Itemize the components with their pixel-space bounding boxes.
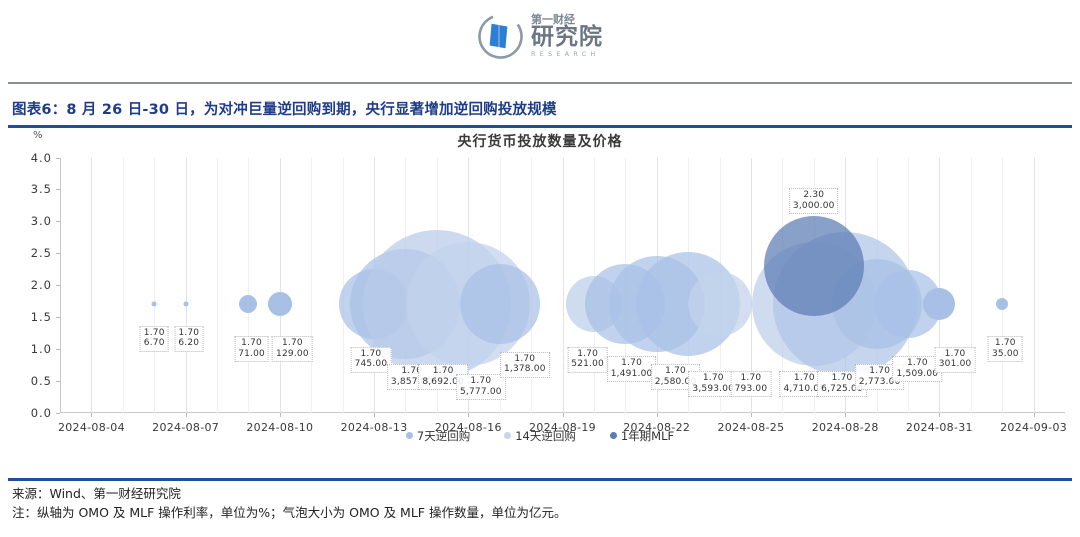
data-label: 1.7071.00 — [234, 336, 269, 362]
data-label-rate: 1.70 — [735, 373, 768, 384]
y-axis-label: 0.0 — [0, 406, 52, 420]
figure-title: 图表6：8 月 26 日-30 日，为对冲巨量逆回购到期，央行显著增加逆回购投放… — [12, 98, 1080, 119]
x-axis-tick — [186, 413, 187, 417]
y-axis-label: 2.5 — [0, 246, 52, 260]
grid-line — [280, 158, 281, 413]
x-axis-tick — [563, 413, 564, 417]
data-label: 1.70521.00 — [567, 347, 608, 373]
footer-divider — [8, 478, 1072, 481]
x-axis-tick — [939, 413, 940, 417]
data-label-rate: 1.70 — [238, 338, 265, 349]
y-axis-tick — [56, 221, 60, 222]
legend-item-3[interactable]: 1年期MLF — [610, 428, 674, 444]
data-bubble[interactable] — [239, 295, 257, 313]
legend-item-2[interactable]: 14天逆回购 — [504, 428, 576, 444]
data-bubble[interactable] — [152, 302, 157, 307]
x-axis-tick — [751, 413, 752, 417]
grid-line — [248, 158, 249, 413]
data-label-rate: 1.70 — [460, 376, 502, 387]
y-axis-label: 1.0 — [0, 342, 52, 356]
y-axis-tick — [56, 285, 60, 286]
grid-line — [91, 158, 92, 413]
y-axis-tick — [56, 158, 60, 159]
data-label-rate: 1.70 — [276, 338, 309, 349]
x-axis-tick — [280, 413, 281, 417]
data-label: 1.70129.00 — [272, 336, 313, 362]
data-label-rate: 1.70 — [504, 354, 546, 365]
data-label-amount: 3,593.00 — [692, 384, 734, 395]
y-axis-label: 1.5 — [0, 310, 52, 324]
logo-main-text: 研究院 — [531, 26, 603, 49]
data-label-amount: 6.20 — [178, 338, 199, 349]
x-axis-tick — [91, 413, 92, 417]
grid-line — [1002, 158, 1003, 413]
data-label-amount: 3,000.00 — [793, 201, 835, 212]
y-axis-label: 3.5 — [0, 182, 52, 196]
y-axis-tick — [56, 253, 60, 254]
data-label-amount: 1,491.00 — [611, 369, 653, 380]
chart-legend: 7天逆回购14天逆回购1年期MLF — [0, 428, 1080, 444]
plot-area: 0.00.51.01.52.02.53.03.54.02024-08-04202… — [60, 158, 1065, 413]
y-axis-label: 2.0 — [0, 278, 52, 292]
grid-line — [217, 158, 218, 413]
legend-label: 14天逆回购 — [515, 428, 576, 444]
data-label: 1.701,378.00 — [500, 352, 550, 378]
source-line: 来源：Wind、第一财经研究院 — [12, 484, 566, 503]
data-label-amount: 1,378.00 — [504, 364, 546, 375]
y-axis-label: 0.5 — [0, 374, 52, 388]
data-label: 1.70745.00 — [351, 347, 392, 373]
data-label: 1.706.70 — [140, 326, 169, 352]
x-axis-tick — [845, 413, 846, 417]
grid-line — [311, 158, 312, 413]
data-label-amount: 35.00 — [992, 349, 1019, 360]
data-label: 1.706.20 — [174, 326, 203, 352]
grid-line — [1034, 158, 1035, 413]
legend-dot-icon — [406, 432, 413, 439]
data-bubble[interactable] — [268, 292, 292, 316]
data-label-amount: 5,777.00 — [460, 387, 502, 398]
data-label-amount: 6.70 — [144, 338, 165, 349]
page-header: 第一财经 研究院 RESEARCH — [0, 0, 1080, 72]
grid-line — [563, 158, 564, 413]
data-label: 1.7035.00 — [988, 336, 1023, 362]
y-axis-tick — [56, 349, 60, 350]
logo-wordmark: 第一财经 研究院 RESEARCH — [531, 14, 603, 58]
data-label-amount: 793.00 — [735, 384, 768, 395]
data-label-rate: 1.70 — [611, 358, 653, 369]
data-label: 1.70301.00 — [935, 347, 976, 373]
data-bubble[interactable] — [183, 302, 188, 307]
y-axis-label: 4.0 — [0, 151, 52, 165]
y-axis-label: 3.0 — [0, 214, 52, 228]
x-axis-tick — [1034, 413, 1035, 417]
legend-dot-icon — [504, 432, 511, 439]
data-label-rate: 1.70 — [692, 373, 734, 384]
x-axis-tick — [468, 413, 469, 417]
data-label: 2.303,000.00 — [789, 188, 839, 214]
grid-line — [154, 158, 155, 413]
logo-mark-icon — [477, 13, 524, 60]
footer-notes: 来源：Wind、第一财经研究院 注：纵轴为 OMO 及 MLF 操作利率，单位为… — [12, 484, 566, 522]
data-label-rate: 2.30 — [793, 190, 835, 201]
grid-line — [971, 158, 972, 413]
y-axis-tick — [56, 413, 60, 414]
chart-container: % 央行货币投放数量及价格 0.00.51.01.52.02.53.03.54.… — [0, 128, 1080, 468]
data-label-amount: 521.00 — [571, 359, 604, 370]
data-label-rate: 1.70 — [355, 349, 388, 360]
legend-item-1[interactable]: 7天逆回购 — [406, 428, 470, 444]
y-axis-tick — [56, 189, 60, 190]
y-axis-tick — [56, 317, 60, 318]
data-label: 1.705,777.00 — [456, 374, 506, 400]
data-label-amount: 301.00 — [939, 359, 972, 370]
data-bubble[interactable] — [688, 272, 752, 336]
data-label: 1.70793.00 — [731, 371, 772, 397]
data-label-rate: 1.70 — [897, 358, 939, 369]
y-axis-tick — [56, 381, 60, 382]
data-label-amount: 129.00 — [276, 349, 309, 360]
data-label-rate: 1.70 — [992, 338, 1019, 349]
grid-line — [186, 158, 187, 413]
data-bubble[interactable] — [460, 264, 540, 344]
legend-label: 7天逆回购 — [417, 428, 470, 444]
brand-logo: 第一财经 研究院 RESEARCH — [477, 13, 603, 60]
data-label-amount: 71.00 — [238, 349, 265, 360]
x-axis-tick — [374, 413, 375, 417]
data-bubble[interactable] — [996, 298, 1008, 310]
data-label-rate: 1.70 — [178, 328, 199, 339]
legend-dot-icon — [610, 432, 617, 439]
data-label-rate: 1.70 — [144, 328, 165, 339]
data-bubble[interactable] — [764, 216, 864, 316]
data-label: 1.701,491.00 — [607, 356, 657, 382]
data-bubble[interactable] — [923, 288, 955, 320]
chart-title: 央行货币投放数量及价格 — [0, 131, 1080, 151]
legend-label: 1年期MLF — [621, 428, 674, 444]
grid-line — [123, 158, 124, 413]
data-label-rate: 1.70 — [571, 349, 604, 360]
data-label-amount: 1,509.00 — [897, 369, 939, 380]
header-divider — [8, 82, 1072, 84]
data-label-rate: 1.70 — [939, 349, 972, 360]
note-line: 注：纵轴为 OMO 及 MLF 操作利率，单位为%；气泡大小为 OMO 及 ML… — [12, 503, 566, 522]
logo-sub-text: RESEARCH — [531, 51, 603, 58]
x-axis-tick — [657, 413, 658, 417]
data-label-amount: 745.00 — [355, 359, 388, 370]
